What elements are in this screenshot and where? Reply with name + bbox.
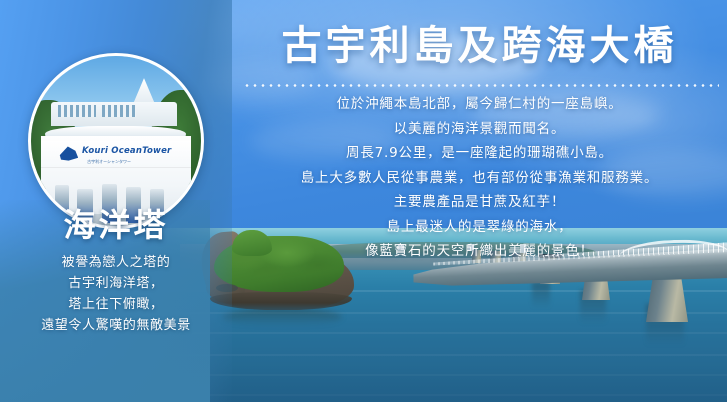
description-text: 位於沖繩本島北部，屬今歸仁村的一座島嶼。 以美麗的海洋景觀而聞名。 周長7.9公…	[232, 92, 727, 264]
kourijima-promo-banner: Kouri OceanTower 古宇利オーシャンタワー 海洋塔 被譽為戀人之塔…	[0, 0, 727, 402]
caption-line: 古宇利海洋塔，	[0, 273, 232, 294]
description-line: 以美麗的海洋景觀而聞名。	[232, 117, 727, 142]
pier-reflection	[532, 282, 550, 308]
page-title: 古宇利島及跨海大橋	[232, 22, 727, 70]
description-line: 像藍寶石的天空所織出美麗的景色！	[232, 239, 727, 264]
left-panel-caption: 被譽為戀人之塔的 古宇利海洋塔， 塔上往下俯瞰， 遠望令人驚嘆的無敵美景	[0, 252, 232, 336]
description-line: 島上最迷人的是翠綠的海水，	[232, 215, 727, 240]
photo-window	[58, 105, 95, 117]
caption-line: 被譽為戀人之塔的	[0, 252, 232, 273]
caption-line: 遠望令人驚嘆的無敵美景	[0, 315, 232, 336]
description-line: 周長7.9公里，是一座隆起的珊瑚礁小島。	[232, 141, 727, 166]
dotted-divider	[243, 84, 719, 87]
description-line: 島上大多數人民從事農業，也有部份從事漁業和服務業。	[232, 166, 727, 191]
left-panel-heading: 海洋塔	[0, 208, 232, 243]
photo-window	[102, 105, 136, 117]
ocean-tower-circle-photo: Kouri OceanTower 古宇利オーシャンタワー	[28, 53, 204, 229]
photo-sign-text: Kouri OceanTower	[82, 146, 171, 156]
caption-line: 塔上往下俯瞰，	[0, 294, 232, 315]
island-reflection	[222, 308, 342, 326]
photo-sign-subtext: 古宇利オーシャンタワー	[87, 159, 131, 165]
description-line: 位於沖繩本島北部，屬今歸仁村的一座島嶼。	[232, 92, 727, 117]
description-line: 主要農產品是甘蔗及紅芋！	[232, 190, 727, 215]
